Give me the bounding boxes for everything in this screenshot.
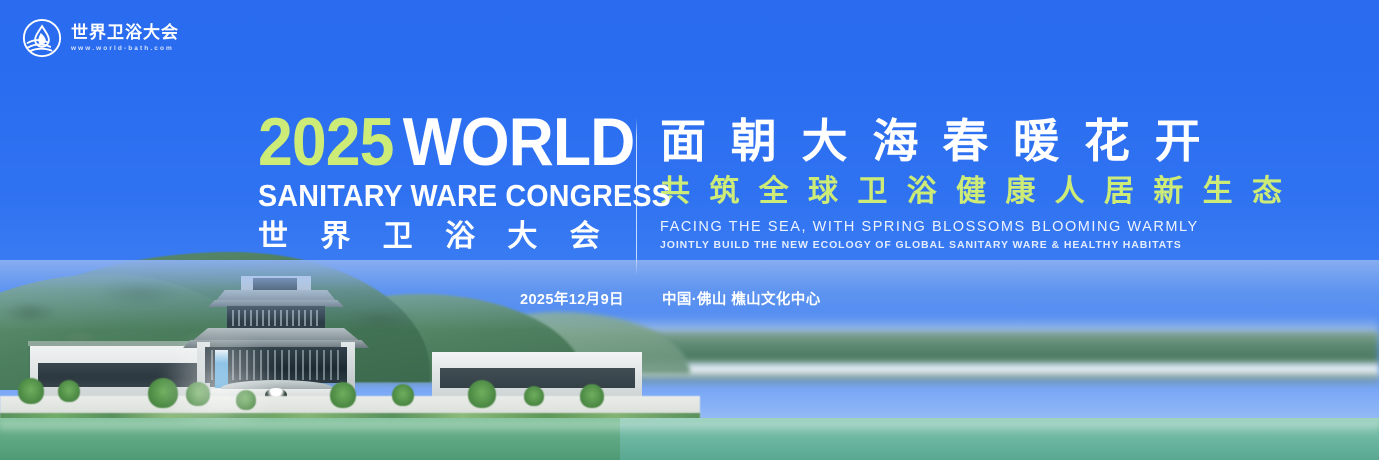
shore-tree	[580, 384, 604, 408]
logo-website-url: www.world-bath.com	[71, 45, 179, 52]
slogan-cn-main-b: 春 暖 花 开	[942, 115, 1206, 167]
water-drop-wave-emblem-icon	[22, 18, 62, 58]
event-meta-row: 2025年12月9日 中国·佛山 樵山文化中心	[520, 288, 821, 309]
shore-tree	[524, 386, 544, 406]
shore-tree	[468, 380, 496, 408]
slogan-en-main: FACING THE SEA, WITH SPRING BLOSSOMS BLO…	[660, 219, 1288, 235]
shore-tree	[392, 384, 414, 406]
slogan-cn-sub: 共 筑 全 球 卫 浴 健 康 人 居 新 生 态	[660, 172, 1288, 211]
pagoda-blue-banner	[215, 350, 228, 388]
shore-tree	[148, 378, 178, 408]
title-headline: 2025 WORLD	[258, 110, 591, 175]
logo-name-cn: 世界卫浴大会	[71, 24, 179, 42]
shore-tree	[58, 380, 80, 402]
event-date: 2025年12月9日	[520, 288, 624, 309]
right-wing-glass-facade	[440, 368, 635, 388]
title-year: 2025	[258, 110, 393, 175]
title-congress-en: SANITARY WARE CONGRESS	[258, 179, 598, 213]
title-left-column: 2025 WORLD SANITARY WARE CONGRESS 世 界 卫 …	[258, 110, 620, 256]
event-banner: 世界卫浴大会 www.world-bath.com 2025 WORLD SAN…	[0, 0, 1379, 460]
pagoda-crown-glass	[253, 278, 297, 290]
slogan-cn-main: 面 朝 大 海春 暖 花 开	[660, 114, 1288, 168]
title-right-column: 面 朝 大 海春 暖 花 开 共 筑 全 球 卫 浴 健 康 人 居 新 生 态…	[660, 110, 1288, 251]
shore-tree	[18, 378, 44, 404]
slogan-cn-main-a: 面 朝 大 海	[660, 115, 924, 167]
title-world: WORLD	[403, 110, 635, 175]
slogan-en-sub: JOINTLY BUILD THE NEW ECOLOGY OF GLOBAL …	[660, 239, 1288, 251]
shore-tree	[330, 382, 356, 408]
shore-tree	[186, 382, 210, 406]
title-congress-cn: 世 界 卫 浴 大 会	[258, 218, 620, 256]
pagoda-upper-body	[227, 306, 325, 330]
water-sheen	[0, 422, 1379, 434]
event-venue: 中国·佛山 樵山文化中心	[662, 288, 821, 309]
pagoda-lower-roof	[191, 328, 361, 342]
brand-logo[interactable]: 世界卫浴大会 www.world-bath.com	[22, 18, 179, 58]
shore-tree	[236, 390, 256, 410]
title-block: 2025 WORLD SANITARY WARE CONGRESS 世 界 卫 …	[258, 110, 1288, 276]
